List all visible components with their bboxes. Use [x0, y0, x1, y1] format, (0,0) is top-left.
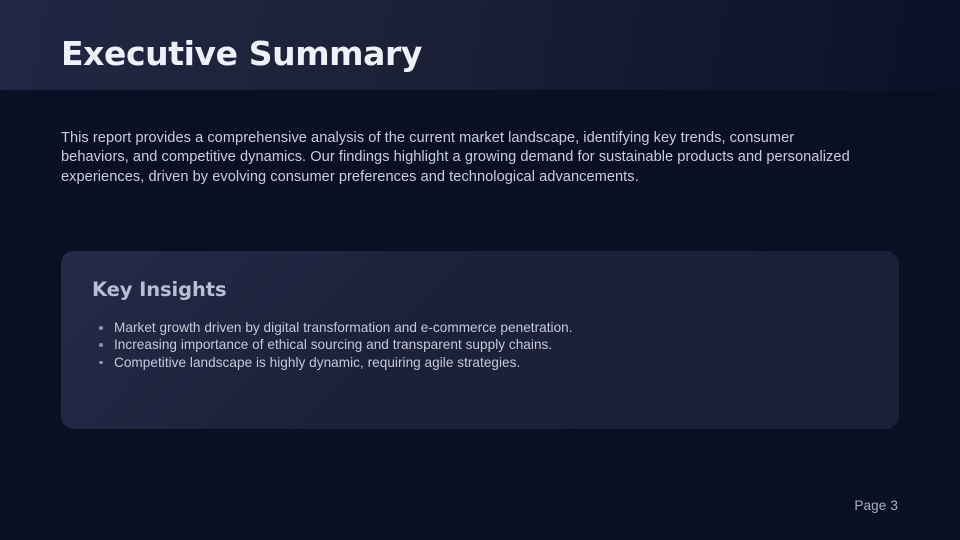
key-insights-card: Key Insights Market growth driven by dig…	[61, 251, 899, 429]
slide-header-band: Executive Summary	[0, 0, 960, 90]
bullet-dot-icon	[99, 343, 103, 347]
key-insights-list: Market growth driven by digital transfor…	[92, 319, 868, 371]
bullet-dot-icon	[99, 326, 103, 330]
list-item-label: Market growth driven by digital transfor…	[114, 320, 573, 335]
key-insights-title: Key Insights	[92, 277, 868, 303]
list-item: Increasing importance of ethical sourcin…	[92, 336, 868, 353]
summary-paragraph: This report provides a comprehensive ana…	[61, 129, 861, 187]
page-title: Executive Summary	[61, 34, 422, 74]
list-item-label: Competitive landscape is highly dynamic,…	[114, 355, 520, 370]
bullet-dot-icon	[99, 361, 103, 365]
list-item: Market growth driven by digital transfor…	[92, 319, 868, 336]
list-item: Competitive landscape is highly dynamic,…	[92, 354, 868, 371]
slide-root: Executive Summary This report provides a…	[0, 0, 960, 540]
page-number: Page 3	[854, 497, 898, 514]
list-item-label: Increasing importance of ethical sourcin…	[114, 337, 552, 352]
